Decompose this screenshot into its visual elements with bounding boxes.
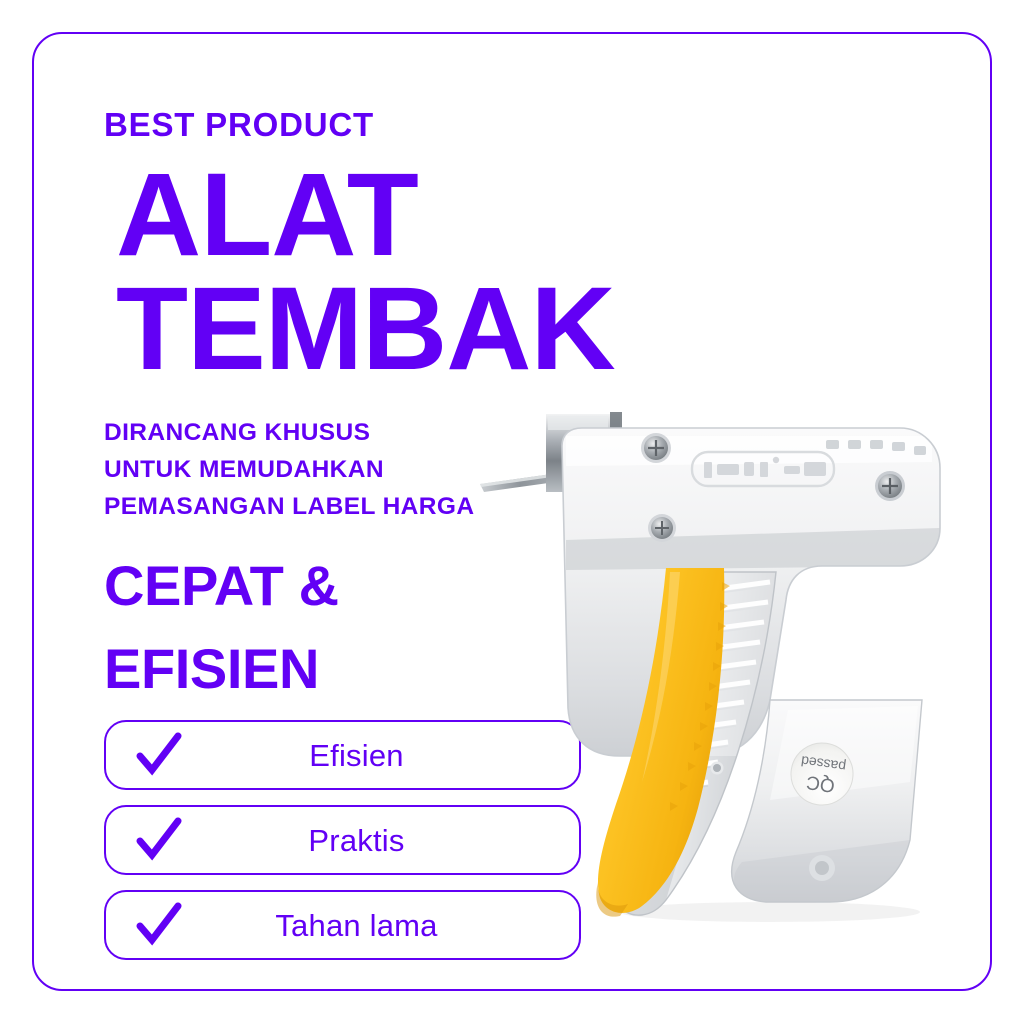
check-icon (136, 902, 182, 948)
product-image-tag-gun: QC passed (470, 400, 990, 940)
screw-top-left (641, 433, 671, 463)
screw-mid (648, 514, 676, 542)
page-title: ALAT TEMBAK (116, 158, 676, 387)
description-text: DIRANCANG KHUSUS UNTUK MEMUDAHKAN PEMASA… (104, 414, 474, 526)
pivot-boss (809, 855, 835, 881)
tagline-text: CEPAT & EFISIEN (104, 545, 339, 711)
rivet-trigger (711, 762, 724, 775)
eyebrow-text: BEST PRODUCT (104, 108, 374, 141)
poster-canvas: BEST PRODUCT ALAT TEMBAK DIRANCANG KHUSU… (0, 0, 1024, 1024)
qc-sticker-line1: QC (805, 771, 836, 796)
screw-top-right (875, 471, 905, 501)
check-icon (136, 817, 182, 863)
check-icon (136, 732, 182, 778)
